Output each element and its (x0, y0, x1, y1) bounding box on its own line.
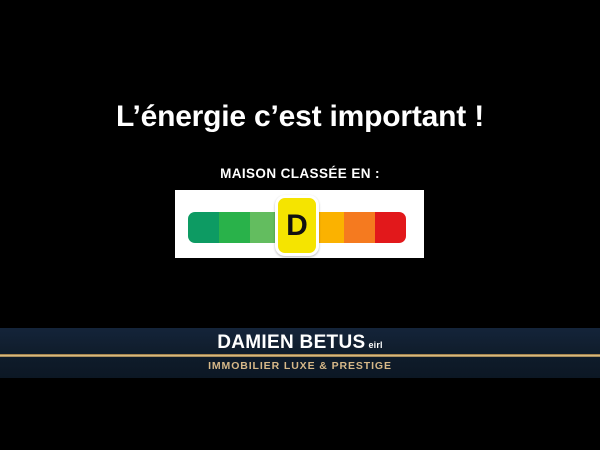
brand-name-text: DAMIEN BETUS (217, 332, 365, 353)
energy-segment-a (188, 212, 219, 243)
footer-band: DAMIEN BETUSeirl IMMOBILIER LUXE & PREST… (0, 328, 600, 378)
brand-tagline: IMMOBILIER LUXE & PRESTIGE (0, 359, 600, 374)
rating-subtitle: MAISON CLASSÉE EN : (0, 165, 600, 183)
slide-canvas: L’énergie c’est important ! MAISON CLASS… (0, 0, 600, 450)
energy-segment-f (344, 212, 375, 243)
page-title: L’énergie c’est important ! (0, 98, 600, 136)
brand-name: DAMIEN BETUSeirl (0, 331, 600, 357)
energy-segment-g (375, 212, 406, 243)
brand-legal-suffix: eirl (368, 340, 382, 350)
energy-rating-badge: D (275, 195, 319, 256)
energy-segment-b (219, 212, 250, 243)
energy-rating-card: D (175, 190, 424, 258)
